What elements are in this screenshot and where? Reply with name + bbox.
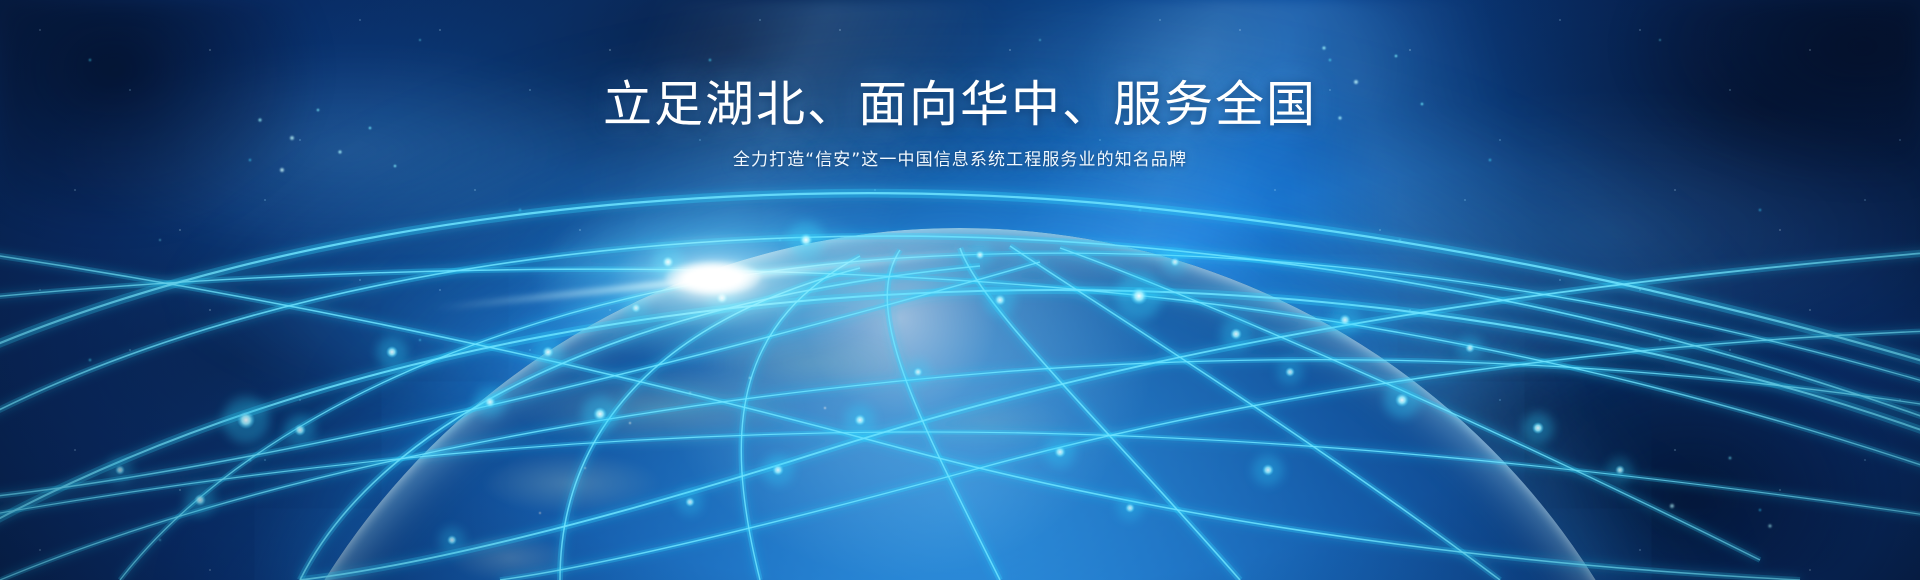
network-node [386,346,398,358]
network-node [913,367,923,377]
network-node [1125,503,1135,513]
network-node [1170,257,1180,267]
network-node [484,396,496,408]
network-node [294,424,306,436]
network-node [115,465,125,475]
network-node [447,535,457,545]
network-node [1465,343,1475,353]
network-node [194,494,206,506]
network-node [994,294,1006,306]
network-node [1615,465,1625,475]
network-node [854,414,866,426]
network-node [1054,446,1066,458]
network-node [1339,314,1351,326]
banner-subheadline: 全力打造“信安”这一中国信息系统工程服务业的知名品牌 [0,149,1920,173]
network-node [1285,367,1295,377]
network-node [1395,393,1409,407]
network-node [1532,422,1544,434]
network-node [237,411,255,429]
network-node [772,464,784,476]
banner-copy: 立足湖北、面向华中、服务全国 全力打造“信安”这一中国信息系统工程服务业的知名品… [0,78,1920,173]
hero-banner: 立足湖北、面向华中、服务全国 全力打造“信安”这一中国信息系统工程服务业的知名品… [0,0,1920,580]
network-arc-glow [120,253,1920,580]
network-node [593,407,607,421]
network-node [685,497,695,507]
network-node [1262,464,1274,476]
network-node [1130,287,1148,305]
central-light-core [665,261,761,295]
network-node [1230,328,1242,340]
banner-headline: 立足湖北、面向华中、服务全国 [0,78,1920,133]
network-arc [120,253,1920,580]
